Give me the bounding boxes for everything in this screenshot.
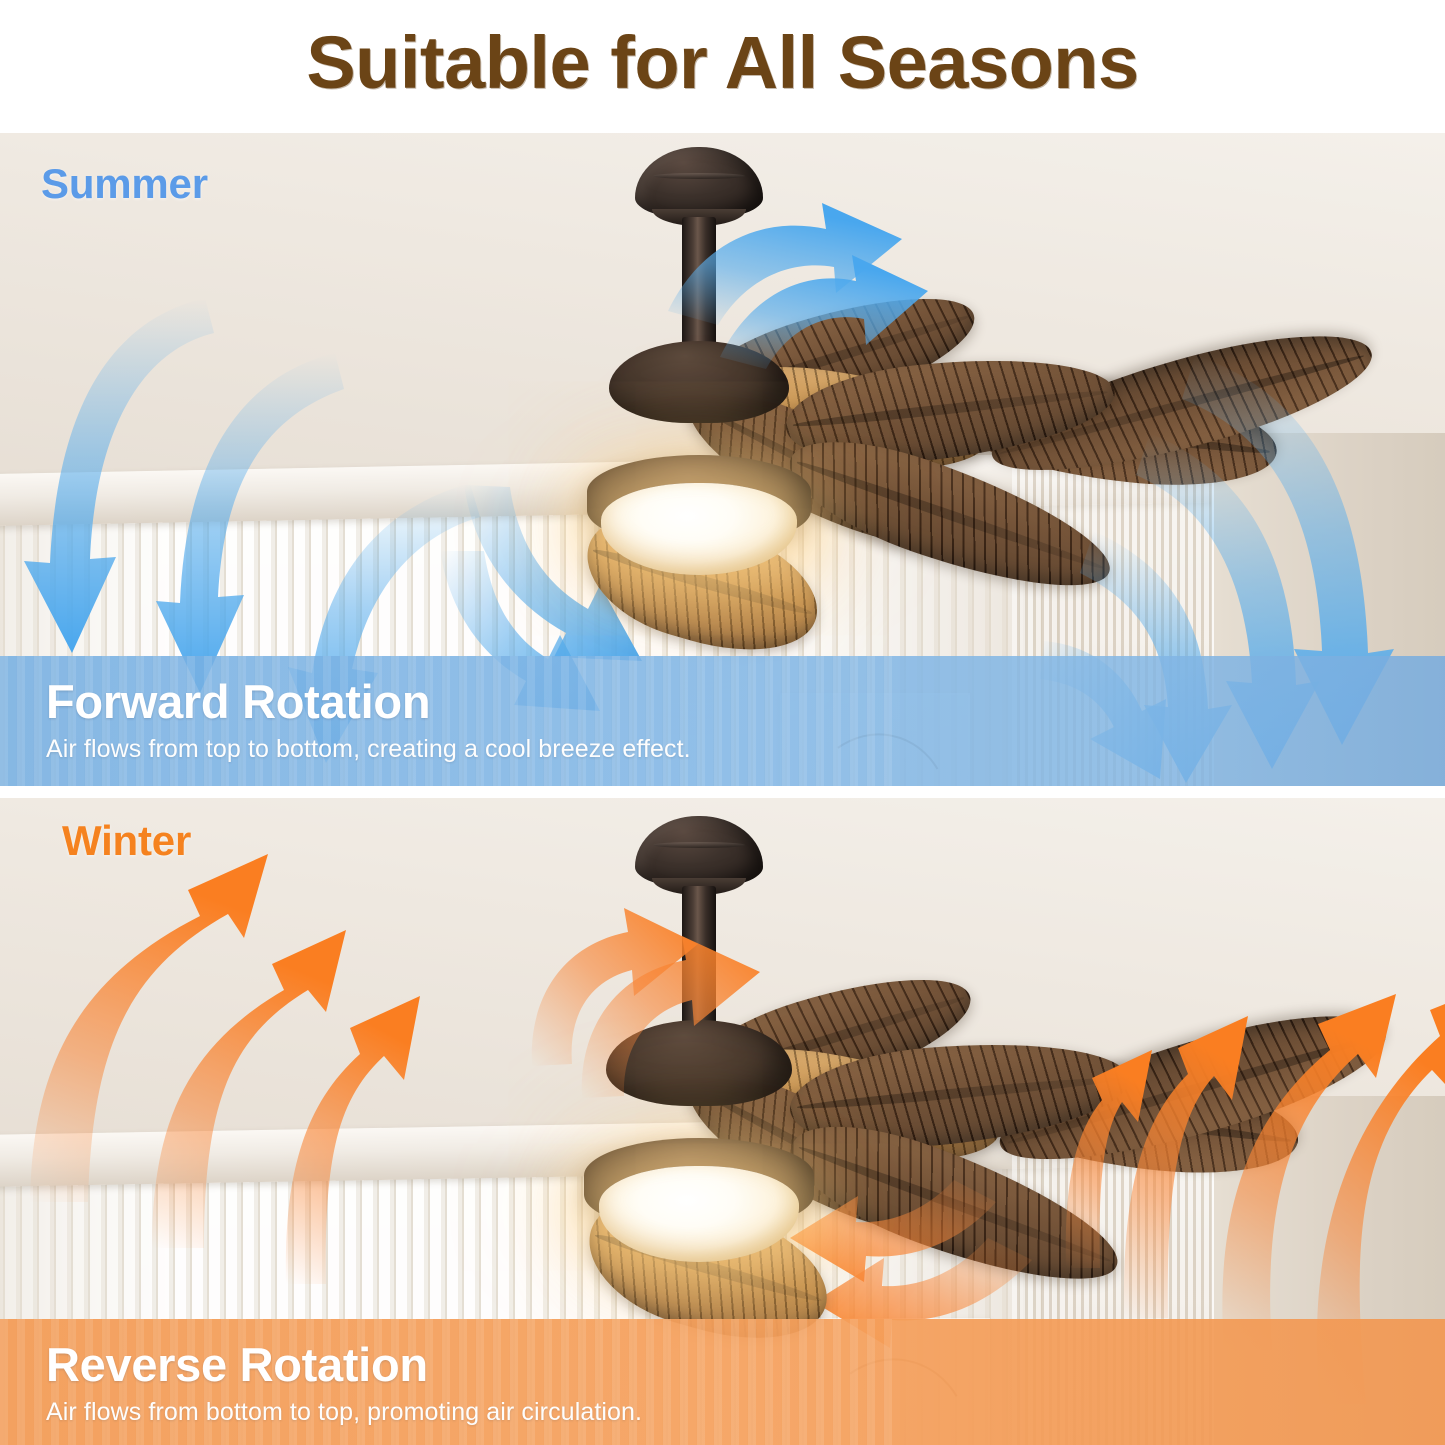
fan-canopy bbox=[635, 816, 763, 888]
canopy-ring bbox=[653, 842, 745, 848]
panel-divider bbox=[0, 786, 1445, 798]
banner-subtitle-forward: Air flows from top to bottom, creating a… bbox=[46, 735, 1445, 764]
page-title: Suitable for All Seasons bbox=[306, 26, 1138, 108]
panel-winter: Winter Reverse Rotation Air flows from b… bbox=[0, 798, 1445, 1445]
canopy-ring bbox=[653, 173, 745, 179]
season-label-summer: Summer bbox=[41, 160, 208, 208]
banner-title-forward: Forward Rotation bbox=[46, 678, 1445, 726]
season-label-winter: Winter bbox=[62, 817, 191, 865]
fan-downrod bbox=[682, 217, 716, 357]
fan-canopy bbox=[635, 147, 763, 219]
header-banner: Suitable for All Seasons bbox=[0, 0, 1445, 133]
banner-title-reverse: Reverse Rotation bbox=[46, 1341, 1445, 1389]
panel-summer: Summer Forward Rotation Air flows from t… bbox=[0, 133, 1445, 786]
fan-downrod bbox=[682, 886, 716, 1038]
banner-forward-rotation: Forward Rotation Air flows from top to b… bbox=[0, 656, 1445, 786]
banner-reverse-rotation: Reverse Rotation Air flows from bottom t… bbox=[0, 1319, 1445, 1445]
banner-subtitle-reverse: Air flows from bottom to top, promoting … bbox=[46, 1398, 1445, 1427]
